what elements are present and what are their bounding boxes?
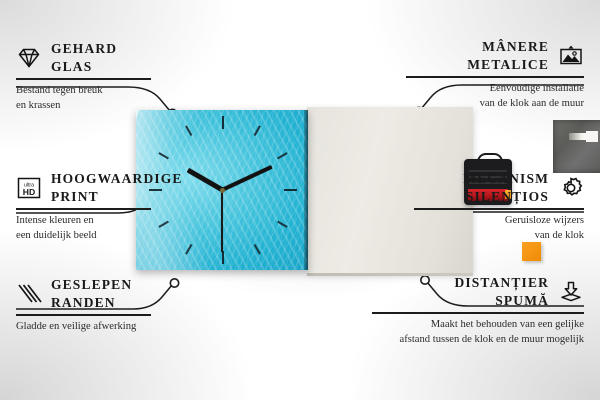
- svg-text:HD: HD: [23, 187, 35, 197]
- hanger-slot-hole: [586, 131, 598, 142]
- callout-title-line1: GEHARD: [51, 41, 117, 56]
- callout-subtitle-line2: afstand tussen de klok en de muur mogeli…: [400, 334, 584, 345]
- callout-rule: [16, 78, 151, 80]
- callout-title-line1: DISTANȚIER: [454, 275, 549, 290]
- callout-subtitle-line1: Eenvoudige installatie: [490, 83, 584, 94]
- callout-rule: [372, 312, 584, 314]
- callout-rule: [16, 208, 151, 210]
- callout-foam-spacer: DISTANȚIER SPUMĂ Maakt het behouden van …: [354, 274, 584, 347]
- picture-hanging-icon: [558, 44, 584, 68]
- callout-rule: [406, 76, 584, 78]
- callout-polished-edges: GESLEPEN RANDEN Gladde en veilige afwerk…: [16, 276, 196, 335]
- callout-subtitle-line2: van de klok aan de muur: [480, 98, 584, 109]
- clock-center-pin: [220, 188, 225, 193]
- metal-hanger-plate: [553, 120, 600, 173]
- clock-tick: [222, 251, 224, 264]
- foam-spacer-icon: [558, 280, 584, 304]
- callout-rule: [16, 314, 151, 316]
- callout-metal-handles: MÂNERE METALICE Eenvoudige installatie v…: [384, 38, 584, 111]
- diamond-icon: [16, 46, 42, 70]
- callout-title-line1: MECANISM: [463, 171, 549, 186]
- infographic-canvas: GEHARD GLAS Bestand tegen breuk en krass…: [0, 0, 600, 400]
- callout-rule: [414, 208, 584, 210]
- callout-title-line1: HOOGWAARDIGE: [51, 171, 183, 186]
- callout-title-line2: RANDEN: [51, 295, 116, 310]
- polished-edges-icon: [16, 282, 42, 306]
- callout-subtitle-line2: en krassen: [16, 100, 60, 111]
- callout-tempered-glass: GEHARD GLAS Bestand tegen breuk en krass…: [16, 40, 186, 113]
- callout-title-line2: METALICE: [467, 57, 549, 72]
- callout-title-line2: PRINT: [51, 189, 99, 204]
- callout-subtitle-line2: een duidelijk beeld: [16, 230, 97, 241]
- clock-tick: [222, 116, 224, 129]
- glass-edge: [304, 110, 308, 270]
- callout-subtitle-line1: Intense kleuren en: [16, 215, 94, 226]
- gear-icon: [558, 176, 584, 200]
- foam-spacer: [522, 242, 541, 261]
- callout-title-line1: GESLEPEN: [51, 277, 132, 292]
- callout-subtitle-line1: Geruisloze wijzers: [505, 215, 584, 226]
- callout-title-line1: MÂNERE: [482, 39, 549, 54]
- clock-tick: [284, 189, 297, 191]
- callout-title-line2: GLAS: [51, 59, 92, 74]
- ultra-hd-icon: ultra HD: [16, 176, 42, 200]
- callout-subtitle-line1: Bestand tegen breuk: [16, 85, 103, 96]
- callout-subtitle-line1: Gladde en veilige afwerking: [16, 321, 136, 332]
- clock-second-hand: [221, 190, 223, 252]
- callout-high-quality-print: ultra HD HOOGWAARDIGE PRINT Intense kleu…: [16, 170, 201, 243]
- callout-title-line2: SILENȚIOS: [466, 189, 549, 204]
- callout-silent-mechanism: MECANISM SILENȚIOS Geruisloze wijzers va…: [394, 170, 584, 243]
- callout-subtitle-line1: Maakt het behouden van een gelijke: [431, 319, 584, 330]
- callout-subtitle-line2: van de klok: [535, 230, 584, 241]
- mechanism-hanger-loop: [477, 153, 503, 165]
- callout-title-line2: SPUMĂ: [495, 293, 549, 308]
